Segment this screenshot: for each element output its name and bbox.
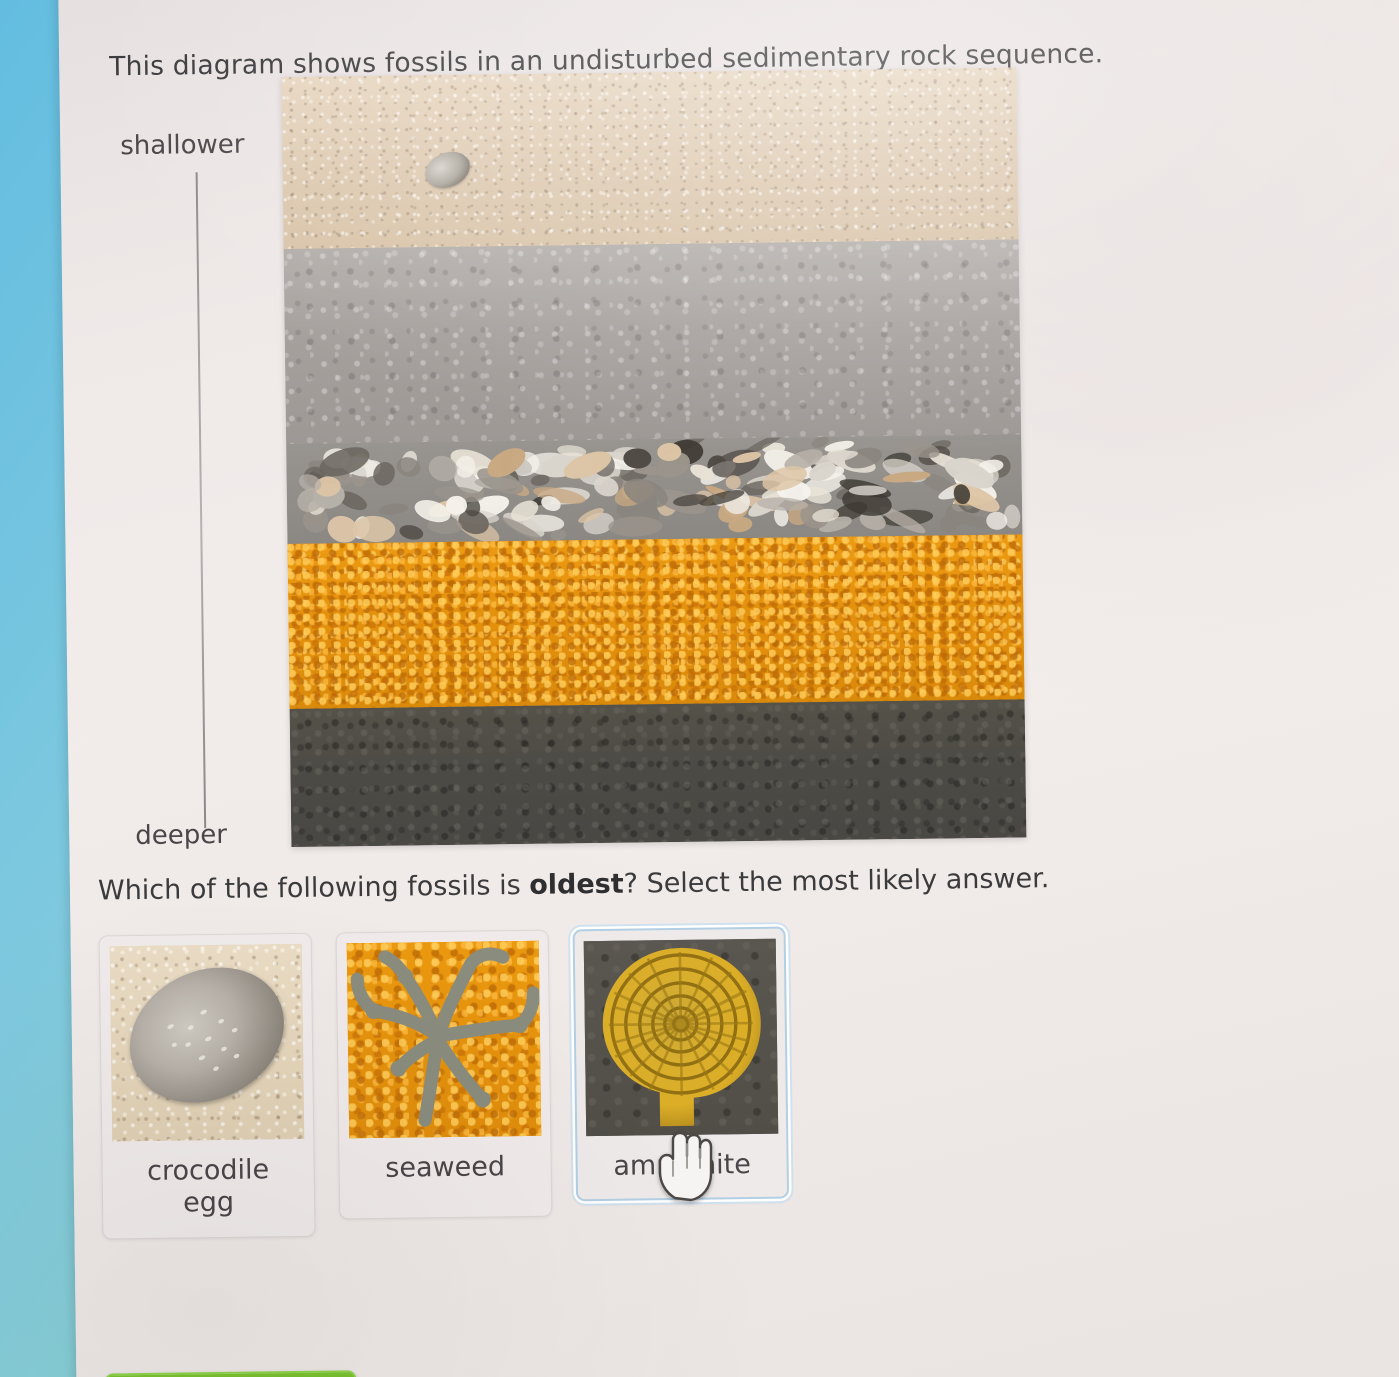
conglomerate-pebble [324,512,362,545]
mouse-cursor-hand-icon [655,1128,713,1202]
option-ammonite-image [583,939,778,1136]
strata-layer-sandstone-pale [281,67,1018,249]
option-seaweed[interactable]: seaweed [336,930,553,1220]
conglomerate-pebble [623,448,651,469]
fossil-crocodile-egg-icon [420,145,476,194]
conglomerate-pebble [849,485,887,495]
ammonite-icon [583,939,778,1136]
conglomerate-pebble [398,523,425,542]
option-crocodile-egg-label: crocodileegg [147,1154,270,1219]
axis-line [196,172,207,828]
submit-button[interactable] [104,1370,357,1377]
strata-layer-sandstone-orange [287,534,1024,709]
strata-layer-shale [290,699,1027,847]
conglomerate-pebble [608,516,662,537]
crocodile-egg-icon [109,944,304,1128]
option-label-line1: crocodile [147,1154,269,1187]
conglomerate-pebble [378,501,408,516]
question-text-before: Which of the following fossils is [98,870,530,907]
screen-sheet: This diagram shows fossils in an undistu… [58,0,1399,1377]
strata-layer-conglomerate [286,434,1022,544]
axis-label-shallower: shallower [120,130,245,162]
question-content: This diagram shows fossils in an undistu… [58,0,1399,1377]
strata-layer-limestone [284,239,1021,444]
option-label-line2: egg [183,1187,234,1219]
conglomerate-pebble [530,474,550,488]
conglomerate-pebble [726,475,742,490]
option-seaweed-label: seaweed [385,1151,505,1184]
conglomerate-pebble [394,455,422,480]
seaweed-icon [346,941,541,1138]
strata-diagram [281,67,1026,847]
option-crocodile-egg[interactable]: crocodileegg [99,933,316,1239]
question-text-after: ? Select the most likely answer. [623,863,1049,900]
option-seaweed-image [346,941,541,1138]
question-emphasis: oldest [529,869,624,901]
conglomerate-pebble [985,511,1007,530]
option-crocodile-egg-image [109,944,304,1141]
axis-label-deeper: deeper [135,820,227,851]
photographed-screen: This diagram shows fossils in an undistu… [0,0,1399,1377]
